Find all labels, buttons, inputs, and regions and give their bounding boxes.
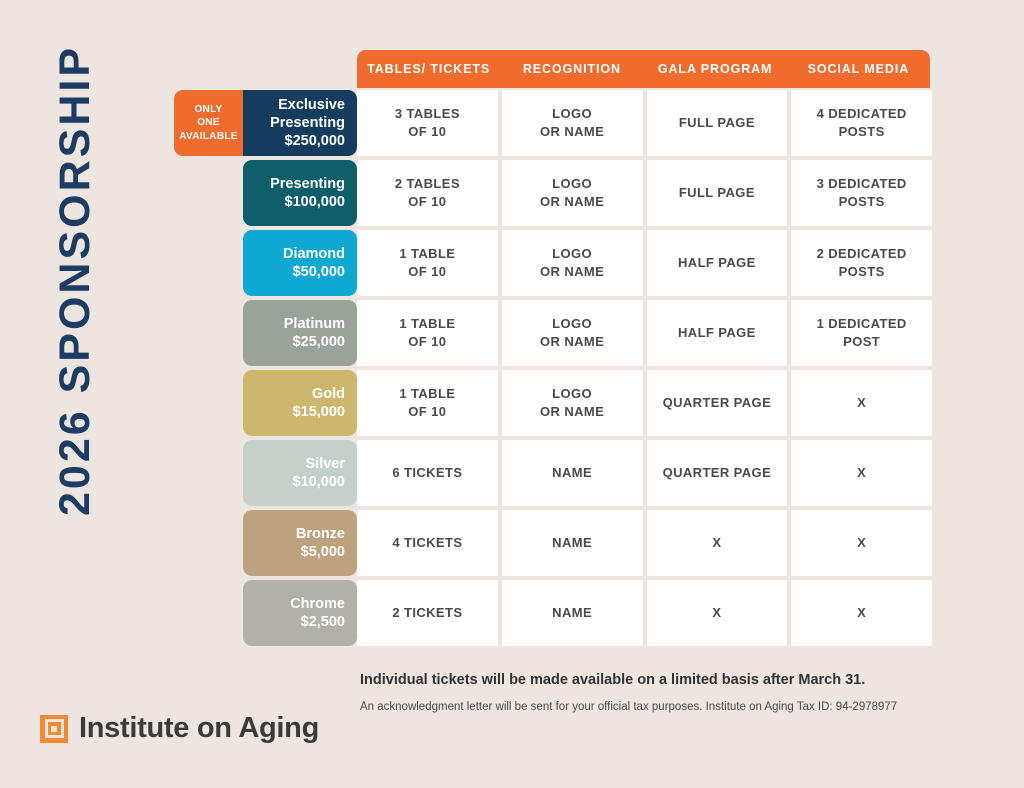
badge-placeholder — [174, 370, 243, 436]
tier-amount: $2,500 — [301, 613, 345, 631]
cell-content: LOGOOR NAME — [540, 105, 604, 142]
table-row: ONLYONEAVAILABLEExclusivePresenting$250,… — [174, 90, 932, 156]
table-cell: 4 TICKETS — [357, 510, 498, 576]
row-cells: 6 TICKETSNAMEQUARTER PAGEX — [357, 440, 932, 506]
cell-line: FULL PAGE — [679, 114, 755, 132]
tier-label: Gold$15,000 — [243, 370, 357, 436]
table-cell: FULL PAGE — [647, 90, 788, 156]
cell-line: NAME — [552, 604, 592, 622]
cell-content: 4 TICKETS — [392, 534, 462, 552]
badge-line: AVAILABLE — [179, 130, 237, 143]
table-cell: X — [647, 580, 788, 646]
cell-line: 6 TICKETS — [392, 464, 462, 482]
table-cell: LOGOOR NAME — [502, 90, 643, 156]
tier-amount: $10,000 — [293, 473, 345, 491]
table-cell: LOGOOR NAME — [502, 160, 643, 226]
logo-ring-3 — [48, 722, 61, 735]
institute-on-aging-logo: Institute on Aging — [40, 712, 319, 745]
footer-note-primary: Individual tickets will be made availabl… — [360, 672, 940, 688]
table-row: Presenting$100,0002 TABLESOF 10LOGOOR NA… — [174, 160, 932, 226]
tier-label: Silver$10,000 — [243, 440, 357, 506]
table-row: Diamond$50,0001 TABLEOF 10LOGOOR NAMEHAL… — [174, 230, 932, 296]
cell-line: OR NAME — [540, 403, 604, 421]
footer-notes: Individual tickets will be made availabl… — [360, 672, 940, 713]
cell-content: LOGOOR NAME — [540, 385, 604, 422]
cell-content: 2 TABLESOF 10 — [395, 175, 460, 212]
badge-placeholder — [174, 160, 243, 226]
cell-content: 1 TABLEOF 10 — [399, 245, 455, 282]
cell-line: 2 DEDICATED — [817, 245, 907, 263]
cell-line: LOGO — [540, 315, 604, 333]
row-cells: 1 TABLEOF 10LOGOOR NAMEQUARTER PAGEX — [357, 370, 932, 436]
tier-label: Platinum$25,000 — [243, 300, 357, 366]
cell-line: 3 TABLES — [395, 105, 460, 123]
badge-slot — [174, 230, 243, 296]
badge-placeholder — [174, 300, 243, 366]
tier-name: Bronze — [296, 525, 345, 543]
cell-content: 4 DEDICATEDPOSTS — [817, 105, 907, 142]
tier-amount: $100,000 — [285, 193, 345, 211]
table-cell: 2 DEDICATEDPOSTS — [791, 230, 932, 296]
table-cell: 1 TABLEOF 10 — [357, 300, 498, 366]
cell-line: LOGO — [540, 105, 604, 123]
cell-line: X — [857, 534, 866, 552]
column-header: SOCIAL MEDIA — [787, 62, 930, 76]
tier-label: Presenting$100,000 — [243, 160, 357, 226]
tier-amount: $25,000 — [293, 333, 345, 351]
tier-name: Silver — [306, 455, 346, 473]
cell-content: NAME — [552, 604, 592, 622]
cell-line: NAME — [552, 534, 592, 552]
table-row: Bronze$5,0004 TICKETSNAMEXX — [174, 510, 932, 576]
table-cell: HALF PAGE — [647, 230, 788, 296]
row-cells: 4 TICKETSNAMEXX — [357, 510, 932, 576]
tier-amount: $15,000 — [293, 403, 345, 421]
table-row: Platinum$25,0001 TABLEOF 10LOGOOR NAMEHA… — [174, 300, 932, 366]
tier-name: Presenting — [270, 114, 345, 132]
cell-content: NAME — [552, 534, 592, 552]
tier-name: Exclusive — [278, 96, 345, 114]
cell-line: LOGO — [540, 385, 604, 403]
cell-content: X — [857, 394, 866, 412]
logo-text: Institute on Aging — [79, 712, 319, 745]
cell-line: 1 TABLE — [399, 315, 455, 333]
cell-content: QUARTER PAGE — [663, 394, 772, 412]
column-header: GALA PROGRAM — [644, 62, 787, 76]
table-cell: NAME — [502, 580, 643, 646]
table-cell: QUARTER PAGE — [647, 440, 788, 506]
cell-content: LOGOOR NAME — [540, 315, 604, 352]
cell-line: OR NAME — [540, 333, 604, 351]
cell-content: X — [712, 534, 721, 552]
cell-line: 3 DEDICATED — [817, 175, 907, 193]
cell-line: X — [712, 534, 721, 552]
cell-line: X — [857, 464, 866, 482]
cell-content: 3 TABLESOF 10 — [395, 105, 460, 142]
table-body: ONLYONEAVAILABLEExclusivePresenting$250,… — [174, 90, 932, 646]
tier-amount: $50,000 — [293, 263, 345, 281]
tier-label: Diamond$50,000 — [243, 230, 357, 296]
table-cell: 2 TICKETS — [357, 580, 498, 646]
tier-amount: $5,000 — [301, 543, 345, 561]
tier-amount: $250,000 — [285, 132, 345, 150]
table-cell: LOGOOR NAME — [502, 370, 643, 436]
badge-placeholder — [174, 510, 243, 576]
tier-name: Chrome — [290, 595, 345, 613]
badge-placeholder — [174, 440, 243, 506]
cell-content: HALF PAGE — [678, 254, 756, 272]
logo-ring-2 — [45, 719, 64, 738]
cell-line: OF 10 — [399, 333, 455, 351]
cell-line: 4 TICKETS — [392, 534, 462, 552]
tier-name: Gold — [312, 385, 345, 403]
cell-line: LOGO — [540, 245, 604, 263]
cell-content: FULL PAGE — [679, 184, 755, 202]
row-cells: 2 TABLESOF 10LOGOOR NAMEFULL PAGE3 DEDIC… — [357, 160, 932, 226]
cell-line: OR NAME — [540, 123, 604, 141]
table-cell: X — [791, 580, 932, 646]
cell-line: QUARTER PAGE — [663, 464, 772, 482]
cell-content: 2 DEDICATEDPOSTS — [817, 245, 907, 282]
cell-content: QUARTER PAGE — [663, 464, 772, 482]
cell-content: 6 TICKETS — [392, 464, 462, 482]
table-cell: FULL PAGE — [647, 160, 788, 226]
cell-line: 4 DEDICATED — [817, 105, 907, 123]
footer-note-secondary: An acknowledgment letter will be sent fo… — [360, 701, 940, 713]
badge-slot — [174, 580, 243, 646]
table-row: Silver$10,0006 TICKETSNAMEQUARTER PAGEX — [174, 440, 932, 506]
table-cell: 3 DEDICATEDPOSTS — [791, 160, 932, 226]
badge-placeholder — [174, 580, 243, 646]
cell-line: 2 TABLES — [395, 175, 460, 193]
cell-content: 1 DEDICATEDPOST — [817, 315, 907, 352]
row-cells: 1 TABLEOF 10LOGOOR NAMEHALF PAGE2 DEDICA… — [357, 230, 932, 296]
table-cell: LOGOOR NAME — [502, 230, 643, 296]
table-cell: 1 TABLEOF 10 — [357, 230, 498, 296]
cell-content: X — [857, 534, 866, 552]
cell-line: NAME — [552, 464, 592, 482]
cell-content: X — [712, 604, 721, 622]
cell-content: 1 TABLEOF 10 — [399, 315, 455, 352]
badge-slot — [174, 160, 243, 226]
cell-content: 1 TABLEOF 10 — [399, 385, 455, 422]
table-cell: QUARTER PAGE — [647, 370, 788, 436]
cell-line: POSTS — [817, 263, 907, 281]
table-cell: X — [791, 370, 932, 436]
cell-line: OR NAME — [540, 263, 604, 281]
badge-slot: ONLYONEAVAILABLE — [174, 90, 243, 156]
cell-line: 1 DEDICATED — [817, 315, 907, 333]
badge-slot — [174, 510, 243, 576]
availability-badge: ONLYONEAVAILABLE — [174, 90, 243, 156]
cell-line: OF 10 — [399, 403, 455, 421]
cell-content: 2 TICKETS — [392, 604, 462, 622]
tier-label: Bronze$5,000 — [243, 510, 357, 576]
tier-name: Presenting — [270, 175, 345, 193]
cell-line: OF 10 — [399, 263, 455, 281]
cell-line: OF 10 — [395, 123, 460, 141]
badge-slot — [174, 440, 243, 506]
badge-placeholder — [174, 230, 243, 296]
sponsorship-table: TABLES/ TICKETSRECOGNITIONGALA PROGRAMSO… — [174, 50, 932, 650]
cell-line: LOGO — [540, 175, 604, 193]
table-cell: 4 DEDICATEDPOSTS — [791, 90, 932, 156]
cell-line: FULL PAGE — [679, 184, 755, 202]
cell-line: 1 TABLE — [399, 245, 455, 263]
row-cells: 3 TABLESOF 10LOGOOR NAMEFULL PAGE4 DEDIC… — [357, 90, 932, 156]
table-row: Gold$15,0001 TABLEOF 10LOGOOR NAMEQUARTE… — [174, 370, 932, 436]
table-cell: X — [791, 440, 932, 506]
table-cell: LOGOOR NAME — [502, 300, 643, 366]
cell-line: 2 TICKETS — [392, 604, 462, 622]
badge-line: ONE — [197, 116, 220, 129]
table-cell: X — [647, 510, 788, 576]
table-cell: HALF PAGE — [647, 300, 788, 366]
table-row: Chrome$2,5002 TICKETSNAMEXX — [174, 580, 932, 646]
row-cells: 1 TABLEOF 10LOGOOR NAMEHALF PAGE1 DEDICA… — [357, 300, 932, 366]
cell-line: X — [712, 604, 721, 622]
cell-content: HALF PAGE — [678, 324, 756, 342]
table-cell: 1 TABLEOF 10 — [357, 370, 498, 436]
tier-label: Chrome$2,500 — [243, 580, 357, 646]
table-cell: 6 TICKETS — [357, 440, 498, 506]
page-title: 2026 SPONSORSHIP — [0, 0, 150, 560]
badge-slot — [174, 370, 243, 436]
badge-slot — [174, 300, 243, 366]
cell-content: X — [857, 464, 866, 482]
logo-ring-4 — [51, 726, 57, 732]
tier-name: Platinum — [284, 315, 345, 333]
cell-line: 1 TABLE — [399, 385, 455, 403]
cell-line: HALF PAGE — [678, 254, 756, 272]
cell-content: NAME — [552, 464, 592, 482]
table-cell: X — [791, 510, 932, 576]
column-header: RECOGNITION — [500, 62, 643, 76]
cell-line: OF 10 — [395, 193, 460, 211]
cell-content: X — [857, 604, 866, 622]
column-header: TABLES/ TICKETS — [357, 62, 500, 76]
cell-line: POST — [817, 333, 907, 351]
cell-line: X — [857, 394, 866, 412]
table-cell: NAME — [502, 440, 643, 506]
concentric-square-icon — [40, 715, 68, 743]
page-title-text: 2026 SPONSORSHIP — [51, 44, 100, 515]
table-cell: 1 DEDICATEDPOST — [791, 300, 932, 366]
table-cell: NAME — [502, 510, 643, 576]
cell-line: POSTS — [817, 193, 907, 211]
cell-line: X — [857, 604, 866, 622]
cell-line: POSTS — [817, 123, 907, 141]
cell-content: LOGOOR NAME — [540, 245, 604, 282]
table-header-row: TABLES/ TICKETSRECOGNITIONGALA PROGRAMSO… — [357, 50, 930, 88]
cell-content: 3 DEDICATEDPOSTS — [817, 175, 907, 212]
cell-line: HALF PAGE — [678, 324, 756, 342]
row-cells: 2 TICKETSNAMEXX — [357, 580, 932, 646]
cell-content: FULL PAGE — [679, 114, 755, 132]
badge-line: ONLY — [194, 103, 222, 116]
table-cell: 3 TABLESOF 10 — [357, 90, 498, 156]
table-cell: 2 TABLESOF 10 — [357, 160, 498, 226]
tier-label: ExclusivePresenting$250,000 — [243, 90, 357, 156]
cell-content: LOGOOR NAME — [540, 175, 604, 212]
cell-line: OR NAME — [540, 193, 604, 211]
tier-name: Diamond — [283, 245, 345, 263]
cell-line: QUARTER PAGE — [663, 394, 772, 412]
